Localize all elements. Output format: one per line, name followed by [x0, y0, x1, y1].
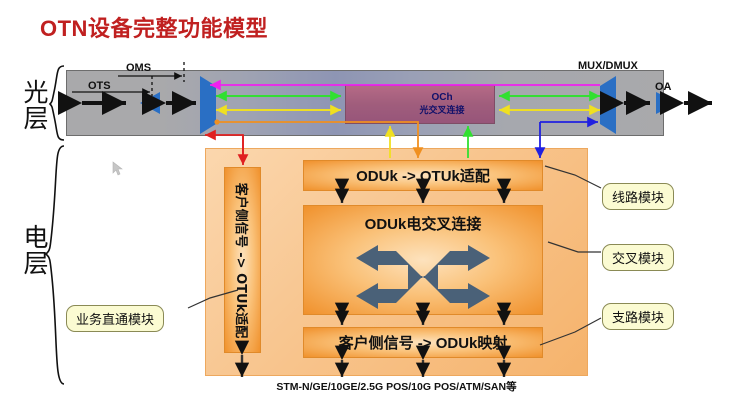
callout-line-module: 线路模块 [602, 183, 674, 210]
oduk-to-otuk-adaptation-box: ODUk -> OTUk适配 [303, 160, 543, 191]
och-title: OCh [396, 91, 488, 105]
electrical-layer-label: 电层 [14, 225, 58, 278]
och-subtitle: 光交叉连接 [396, 105, 488, 117]
mux-dmux-label: MUX/DMUX [578, 60, 638, 72]
cross-connect-x-icon [338, 242, 508, 312]
callout-passthrough-module: 业务直通模块 [66, 305, 164, 332]
och-box-label: OCh 光交叉连接 [396, 91, 488, 117]
mouse-cursor [113, 162, 122, 175]
client-side-adaptation-label: 客户侧信号 -> OTUk适配 [233, 182, 252, 337]
ots-label: OTS [88, 80, 111, 92]
client-signal-types-caption: STM-N/GE/10GE/2.5G POS/10G POS/ATM/SAN等 [205, 379, 588, 394]
page-title: OTN设备完整功能模型 [40, 11, 268, 43]
client-to-oduk-mapping-box: 客户侧信号 -> ODUk映射 [303, 327, 543, 358]
oa-label: OA [655, 81, 672, 93]
och-cross-connect-box: OCh 光交叉连接 [345, 85, 495, 124]
client-to-oduk-mapping-label: 客户侧信号 -> ODUk映射 [339, 332, 508, 353]
callout-tributary-module: 支路模块 [602, 303, 674, 330]
oduk-cross-connect-box: ODUk电交叉连接 [303, 205, 543, 315]
optical-layer-label: 光层 [14, 80, 58, 133]
oduk-to-otuk-adaptation-label: ODUk -> OTUk适配 [356, 165, 490, 186]
oduk-cross-connect-label: ODUk电交叉连接 [304, 213, 542, 234]
client-side-adaptation-box: 客户侧信号 -> OTUk适配 [224, 167, 261, 353]
callout-cross-module: 交叉模块 [602, 244, 674, 271]
oms-label: OMS [126, 62, 151, 74]
